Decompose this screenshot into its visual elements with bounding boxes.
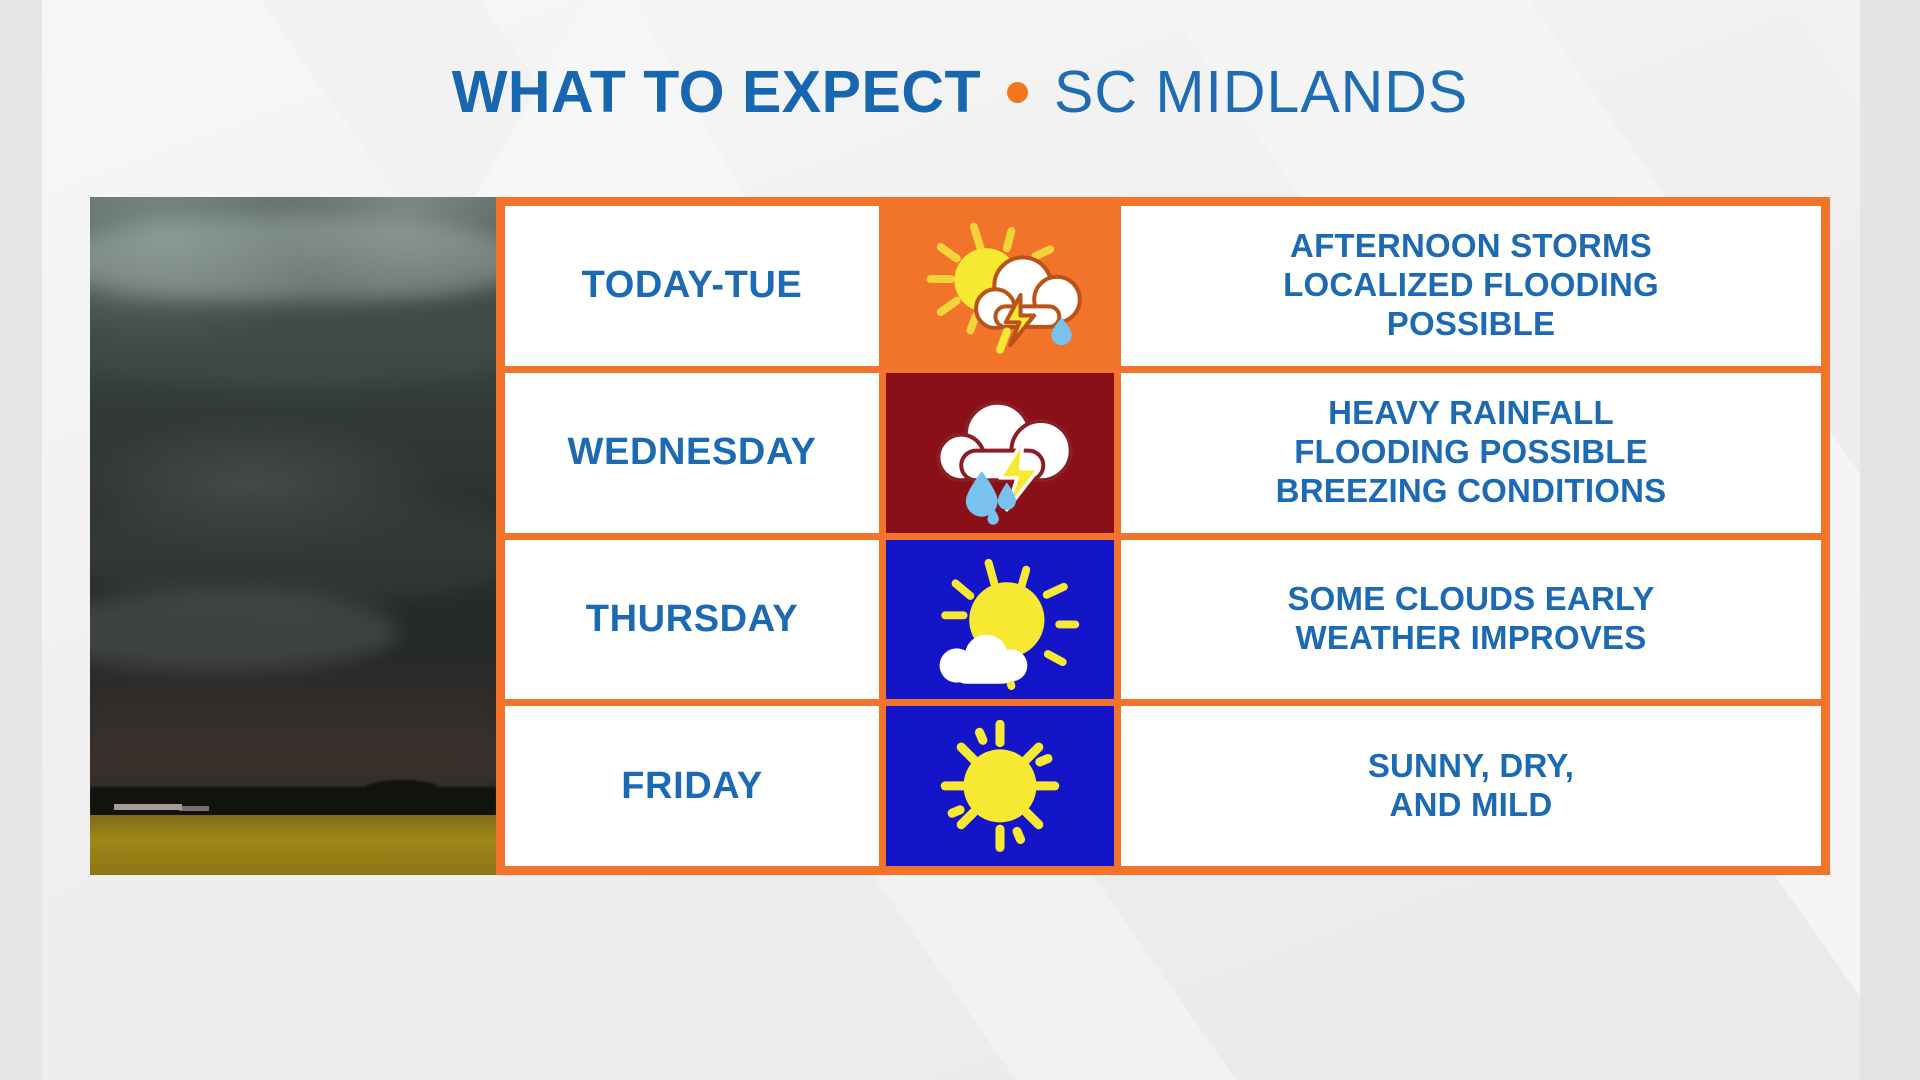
forecast-graphic: TODAY-TUE: [90, 197, 1830, 875]
page-header: WHAT TO EXPECT SC MIDLANDS: [0, 58, 1920, 126]
table-row: TODAY-TUE: [505, 206, 1821, 366]
day-cell: THURSDAY: [505, 540, 879, 700]
page-title-bold: WHAT TO EXPECT: [452, 58, 981, 126]
cloud-band-icon: [90, 495, 496, 603]
day-cell: FRIDAY: [505, 706, 879, 866]
bullet-dot-icon: [1007, 82, 1028, 103]
description-text: SUNNY, DRY, AND MILD: [1368, 747, 1574, 825]
field-foreground: [90, 815, 496, 875]
cloud-rain-lightning-icon: [886, 373, 1114, 533]
day-cell: TODAY-TUE: [505, 206, 879, 366]
day-label: TODAY-TUE: [582, 264, 803, 307]
description-cell: SOME CLOUDS EARLY WEATHER IMPROVES: [1121, 540, 1821, 700]
cloud-band-icon: [90, 305, 496, 386]
description-cell: AFTERNOON STORMS LOCALIZED FLOODING POSS…: [1121, 206, 1821, 366]
icon-cell: [886, 706, 1114, 866]
description-cell: SUNNY, DRY, AND MILD: [1121, 706, 1821, 866]
barn-structure: [179, 806, 209, 811]
description-text: HEAVY RAINFALL FLOODING POSSIBLE BREEZIN…: [1276, 394, 1667, 511]
sun-behind-cloud-icon: [886, 540, 1114, 700]
icon-cell: [886, 540, 1114, 700]
table-row: FRIDAY: [505, 706, 1821, 866]
table-row: THURSDAY: [505, 540, 1821, 700]
description-text: SOME CLOUDS EARLY WEATHER IMPROVES: [1287, 580, 1654, 658]
description-text: AFTERNOON STORMS LOCALIZED FLOODING POSS…: [1283, 227, 1659, 344]
sun-icon: [886, 706, 1114, 866]
day-label: THURSDAY: [586, 598, 798, 641]
page-title-region: SC MIDLANDS: [1054, 58, 1468, 126]
sun-cloud-storm-icon: [886, 206, 1114, 366]
barn-structure: [114, 804, 182, 810]
icon-cell: [886, 206, 1114, 366]
description-cell: HEAVY RAINFALL FLOODING POSSIBLE BREEZIN…: [1121, 373, 1821, 533]
treeline: [90, 787, 496, 818]
day-label: WEDNESDAY: [568, 431, 817, 474]
storm-photo: [90, 197, 496, 875]
table-row: WEDNESDAY HEAVY RAINFALL FLO: [505, 373, 1821, 533]
cloud-band-icon: [90, 217, 496, 305]
forecast-table: TODAY-TUE: [496, 197, 1830, 875]
icon-cell: [886, 373, 1114, 533]
day-label: FRIDAY: [621, 765, 763, 808]
day-cell: WEDNESDAY: [505, 373, 879, 533]
